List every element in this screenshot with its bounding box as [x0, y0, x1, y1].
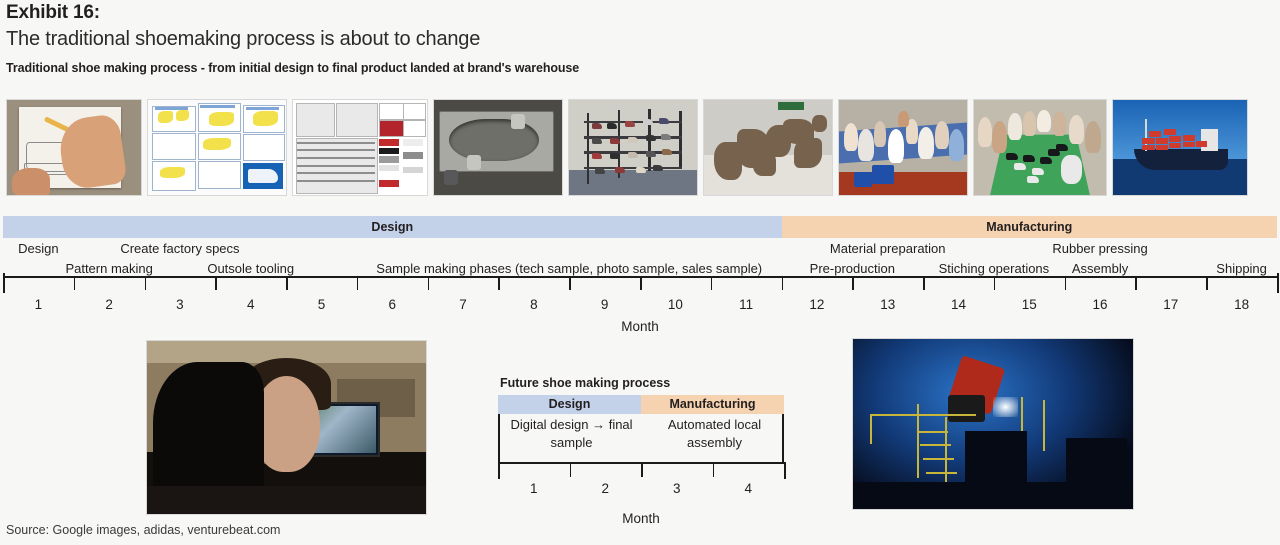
- timeline-tick: [640, 276, 642, 290]
- timeline-tick: [3, 273, 5, 293]
- timeline-phase-label: Assembly: [1065, 261, 1136, 276]
- assembly-line-photo: [973, 99, 1107, 196]
- timeline-tick: [1135, 276, 1137, 290]
- future-cell-manufacturing: Automated local assembly: [643, 416, 786, 452]
- timeline-tick: [215, 276, 217, 290]
- future-tick: [784, 462, 786, 479]
- timeline-month-number: 3: [145, 297, 216, 312]
- timeline-tick: [782, 276, 784, 290]
- future-band-design: Design: [498, 395, 641, 414]
- timeline-phase-label: Sample making phases (tech sample, photo…: [286, 261, 852, 276]
- timeline-tick: [1206, 276, 1208, 290]
- timeline-phase-label: Create factory specs: [74, 241, 286, 256]
- future-band-manufacturing-label: Manufacturing: [669, 397, 755, 411]
- sample-racks-photo: [568, 99, 698, 196]
- timeline-phase-label: Shipping: [1206, 261, 1277, 276]
- exhibit-label: Exhibit 16:: [6, 2, 100, 24]
- timeline-tick: [852, 276, 854, 290]
- timeline-month-number: 10: [640, 297, 711, 312]
- subtitle: Traditional shoe making process - from i…: [6, 61, 579, 75]
- timeline-tick: [286, 276, 288, 290]
- traditional-process-timeline: Design Manufacturing DesignCreate factor…: [0, 216, 1280, 336]
- future-cell-row: Digital design → final sample Automated …: [498, 414, 784, 462]
- outsole-mold-photo: [433, 99, 563, 196]
- timeline-tick: [994, 276, 996, 290]
- timeline-tick: [428, 276, 430, 290]
- stitching-line-photo: [838, 99, 968, 196]
- timeline-month-number: 15: [994, 297, 1065, 312]
- timeline-month-number: 2: [74, 297, 145, 312]
- future-month-number: 2: [570, 481, 642, 496]
- timeline-month-number: 5: [286, 297, 357, 312]
- timeline-month-number: 8: [498, 297, 569, 312]
- timeline-phase-label: Stiching operations: [923, 261, 1065, 276]
- timeline-tick: [357, 276, 359, 290]
- timeline-month-number: 6: [357, 297, 428, 312]
- automated-robot-cell-photo: [852, 338, 1134, 510]
- timeline-month-number: 12: [782, 297, 853, 312]
- page-title: The traditional shoemaking process is ab…: [6, 28, 480, 51]
- source-note: Source: Google images, adidas, venturebe…: [6, 523, 280, 537]
- timeline-month-number: 9: [569, 297, 640, 312]
- future-band-design-label: Design: [549, 397, 591, 411]
- future-band-manufacturing: Manufacturing: [641, 395, 784, 414]
- timeline-month-number: 17: [1135, 297, 1206, 312]
- digital-design-photo: [146, 340, 427, 515]
- future-tick: [498, 462, 500, 479]
- future-month-number: 4: [713, 481, 785, 496]
- timeline-upper-label-row: DesignCreate factory specsMaterial prepa…: [0, 241, 1280, 261]
- timeline-tick: [923, 276, 925, 290]
- timeline-axis-caption: Month: [0, 319, 1280, 334]
- process-photo-strip: [6, 99, 1274, 196]
- timeline-month-number: 14: [923, 297, 994, 312]
- timeline-month-number: 13: [852, 297, 923, 312]
- timeline-band-design: Design: [3, 216, 782, 238]
- future-process-table: Future shoe making process Design Manufa…: [498, 376, 784, 526]
- timeline-month-number: 7: [428, 297, 499, 312]
- future-cell-design: Digital design → final sample: [500, 416, 643, 452]
- container-ship-photo: [1112, 99, 1248, 196]
- future-tick: [570, 464, 572, 477]
- timeline-month-number: 4: [215, 297, 286, 312]
- cut-rubber-parts-photo: [703, 99, 833, 196]
- future-axis-caption: Month: [498, 511, 784, 526]
- spec-sheet-photo: [292, 99, 428, 196]
- future-tick: [641, 464, 643, 477]
- timeline-tick: [569, 276, 571, 290]
- future-band-row: Design Manufacturing: [498, 395, 784, 414]
- timeline-phase-label: Design: [3, 241, 74, 256]
- timeline-phase-label: Pre-production: [782, 261, 924, 276]
- future-process-title: Future shoe making process: [500, 376, 784, 390]
- timeline-band-design-label: Design: [371, 220, 413, 234]
- timeline-band-manufacturing-label: Manufacturing: [986, 220, 1072, 234]
- timeline-tick: [1065, 276, 1067, 290]
- future-month-number: 1: [498, 481, 570, 496]
- timeline-tick: [711, 276, 713, 290]
- timeline-phase-label: Rubber pressing: [994, 241, 1206, 256]
- future-month-number: 3: [641, 481, 713, 496]
- timeline-tick: [498, 276, 500, 290]
- future-axis: 1234: [498, 462, 784, 496]
- timeline-month-number: 11: [711, 297, 782, 312]
- hand-sketching-shoe-photo: [6, 99, 142, 196]
- technical-drawings-photo: [147, 99, 287, 196]
- timeline-tick: [145, 276, 147, 290]
- timeline-tick: [1277, 273, 1279, 293]
- timeline-phase-label: Material preparation: [782, 241, 994, 256]
- future-tick: [713, 464, 715, 477]
- timeline-band-manufacturing: Manufacturing: [782, 216, 1277, 238]
- timeline-month-number: 18: [1206, 297, 1277, 312]
- timeline-month-number: 1: [3, 297, 74, 312]
- timeline-tick: [74, 276, 76, 290]
- timeline-month-number: 16: [1065, 297, 1136, 312]
